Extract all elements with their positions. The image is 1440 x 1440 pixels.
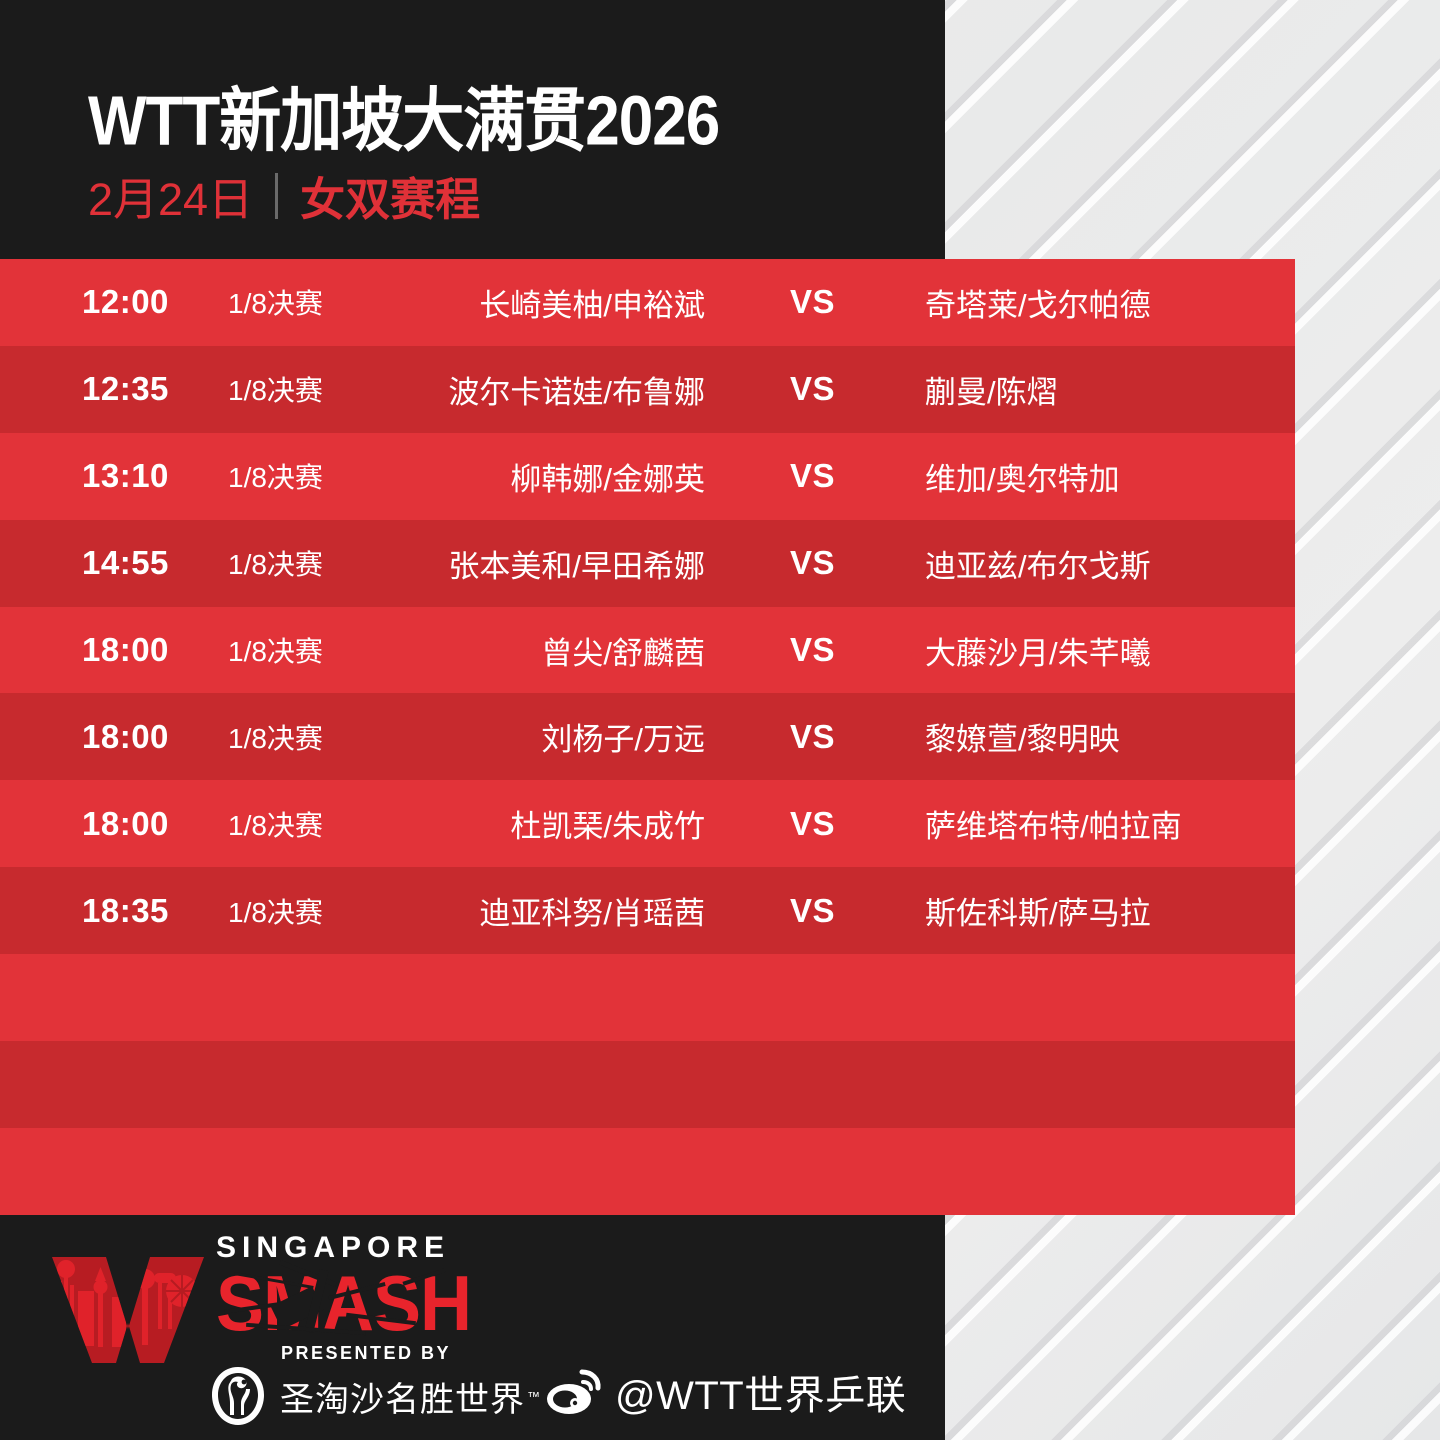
vs-label: VS — [760, 283, 865, 321]
vs-label: VS — [760, 718, 865, 756]
player-pair-right: 大藤沙月/朱芊曦 — [925, 628, 1285, 673]
table-row: 18:35 1/8决赛 迪亚科努/肖瑶茜 VS 斯佐科斯/萨马拉 — [0, 867, 1295, 954]
footer-panel: SINGAPORE SMASH PRESENTED BY — [0, 1215, 945, 1440]
player-pair-left: 波尔卡诺娃/布鲁娜 — [360, 367, 705, 412]
player-pair-right: 迪亚兹/布尔戈斯 — [925, 541, 1285, 586]
w-skyline-icon — [48, 1251, 208, 1366]
player-pair-left: 长崎美柚/申裕斌 — [360, 280, 705, 325]
match-time: 14:55 — [82, 544, 222, 582]
match-stage: 1/8决赛 — [228, 456, 323, 496]
match-time: 18:35 — [82, 892, 222, 930]
table-row: 18:00 1/8决赛 曾尖/舒麟茜 VS 大藤沙月/朱芊曦 — [0, 607, 1295, 694]
player-pair-left: 张本美和/早田希娜 — [360, 541, 705, 586]
smash-word-wrap: SMASH — [216, 1265, 516, 1337]
match-stage: 1/8决赛 — [228, 543, 323, 583]
match-time: 18:00 — [82, 631, 222, 669]
player-pair-right: 萨维塔布特/帕拉南 — [925, 801, 1285, 846]
match-stage: 1/8决赛 — [228, 717, 323, 757]
weibo-handle[interactable]: @WTT世界乒联 — [615, 1363, 906, 1421]
match-time: 13:10 — [82, 457, 222, 495]
singapore-smash-logo: SINGAPORE SMASH PRESENTED BY — [48, 1233, 516, 1366]
match-time: 18:00 — [82, 805, 222, 843]
vs-label: VS — [760, 892, 865, 930]
vs-label: VS — [760, 370, 865, 408]
table-row-empty — [0, 954, 1295, 1041]
table-row: 13:10 1/8决赛 柳韩娜/金娜英 VS 维加/奥尔特加 — [0, 433, 1295, 520]
trademark-symbol: ™ — [527, 1389, 540, 1404]
player-pair-right: 斯佐科斯/萨马拉 — [925, 888, 1285, 933]
player-pair-right: 奇塔莱/戈尔帕德 — [925, 280, 1285, 325]
vs-label: VS — [760, 805, 865, 843]
vs-label: VS — [760, 457, 865, 495]
event-category: 女双赛程 — [300, 163, 480, 228]
player-pair-right: 黎嫽萱/黎明映 — [925, 714, 1285, 759]
player-pair-right: 蒯曼/陈熠 — [925, 367, 1285, 412]
table-row-empty — [0, 1128, 1295, 1215]
vs-label: VS — [760, 544, 865, 582]
sentosa-name: 圣淘沙名胜世界 — [280, 1372, 525, 1421]
schedule-table: 12:00 1/8决赛 长崎美柚/申裕斌 VS 奇塔莱/戈尔帕德 12:35 1… — [0, 259, 1295, 1215]
player-pair-left: 曾尖/舒麟茜 — [360, 628, 705, 673]
table-row-empty — [0, 1041, 1295, 1128]
subtitle-line: 2月24日 女双赛程 — [88, 163, 480, 228]
table-row: 18:00 1/8决赛 刘杨子/万远 VS 黎嫽萱/黎明映 — [0, 693, 1295, 780]
weibo-lockup[interactable]: @WTT世界乒联 — [545, 1363, 906, 1421]
match-stage: 1/8决赛 — [228, 369, 323, 409]
subtitle-divider — [275, 173, 278, 219]
poster-canvas: WTT新加坡大满贯2026 2月24日 女双赛程 12:00 1/8决赛 长崎美… — [0, 0, 1440, 1440]
match-time: 18:00 — [82, 718, 222, 756]
event-date: 2月24日 — [88, 163, 253, 228]
sentosa-sponsor-lockup: 圣淘沙名胜世界 ™ — [210, 1365, 540, 1427]
table-row: 12:35 1/8决赛 波尔卡诺娃/布鲁娜 VS 蒯曼/陈熠 — [0, 346, 1295, 433]
player-pair-left: 柳韩娜/金娜英 — [360, 454, 705, 499]
rws-lion-icon — [210, 1365, 266, 1427]
header-panel: WTT新加坡大满贯2026 2月24日 女双赛程 — [0, 0, 945, 259]
match-time: 12:35 — [82, 370, 222, 408]
table-row: 18:00 1/8决赛 杜凯琹/朱成竹 VS 萨维塔布特/帕拉南 — [0, 780, 1295, 867]
match-stage: 1/8决赛 — [228, 891, 323, 931]
smash-wordmark-block: SINGAPORE SMASH PRESENTED BY — [216, 1233, 516, 1364]
player-pair-right: 维加/奥尔特加 — [925, 454, 1285, 499]
player-pair-left: 迪亚科努/肖瑶茜 — [360, 888, 705, 933]
table-row: 12:00 1/8决赛 长崎美柚/申裕斌 VS 奇塔莱/戈尔帕德 — [0, 259, 1295, 346]
singapore-word: SINGAPORE — [216, 1233, 516, 1263]
match-stage: 1/8决赛 — [228, 804, 323, 844]
page-title: WTT新加坡大满贯2026 — [88, 64, 719, 165]
table-row: 14:55 1/8决赛 张本美和/早田希娜 VS 迪亚兹/布尔戈斯 — [0, 520, 1295, 607]
player-pair-left: 杜凯琹/朱成竹 — [360, 801, 705, 846]
vs-label: VS — [760, 631, 865, 669]
match-time: 12:00 — [82, 283, 222, 321]
weibo-icon[interactable] — [545, 1368, 603, 1416]
match-stage: 1/8决赛 — [228, 630, 323, 670]
player-pair-left: 刘杨子/万远 — [360, 714, 705, 759]
match-stage: 1/8决赛 — [228, 282, 323, 322]
